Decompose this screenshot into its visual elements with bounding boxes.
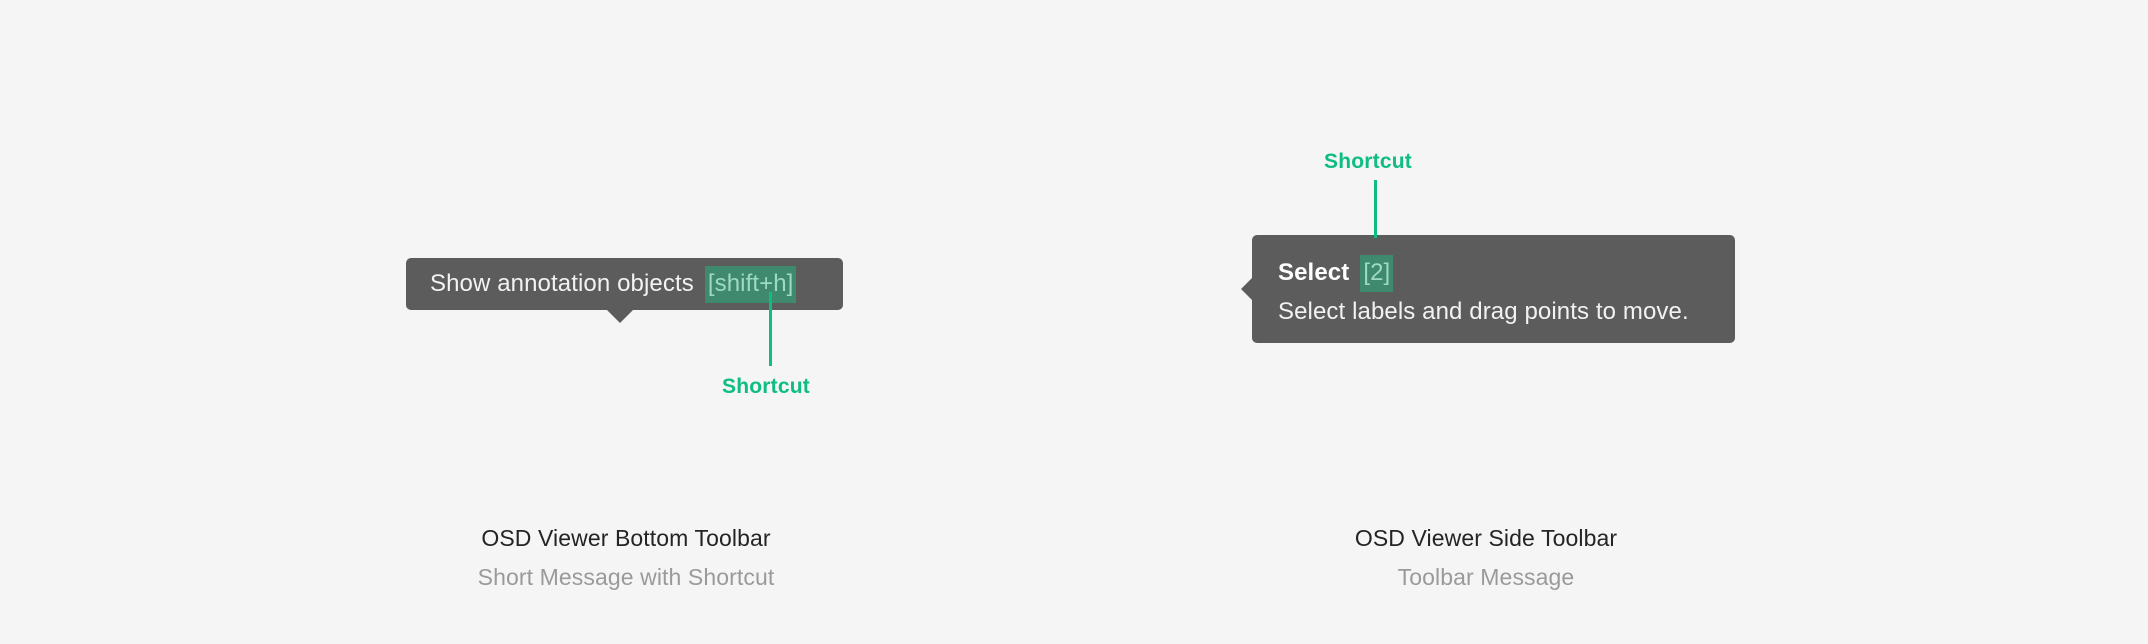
callout-leader-line-shortcut-side bbox=[1374, 180, 1377, 238]
callout-leader-line-shortcut-bottom bbox=[769, 292, 772, 366]
shortcut-chip: [2] bbox=[1360, 255, 1393, 292]
caption-subtitle: Toolbar Message bbox=[1226, 562, 1746, 593]
tooltip-title: Select bbox=[1278, 259, 1349, 287]
caption-title: OSD Viewer Side Toolbar bbox=[1226, 523, 1746, 554]
tooltip-title-row: Select [2] bbox=[1278, 255, 1709, 292]
callout-label-shortcut-side: Shortcut bbox=[1324, 150, 1412, 174]
caption-bottom-toolbar: OSD Viewer Bottom Toolbar Short Message … bbox=[366, 523, 886, 593]
shortcut-chip: [shift+h] bbox=[705, 266, 797, 303]
tooltip-description: Select labels and drag points to move. bbox=[1278, 298, 1709, 326]
annotation-figure-stage: Show annotation objects [shift+h] Shortc… bbox=[0, 0, 2148, 644]
tooltip-side-toolbar: Select [2] Select labels and drag points… bbox=[1252, 235, 1735, 343]
tooltip-message: Show annotation objects bbox=[430, 270, 694, 298]
callout-label-shortcut-bottom: Shortcut bbox=[722, 375, 810, 399]
tooltip-caret-down-icon bbox=[607, 310, 633, 323]
caption-subtitle: Short Message with Shortcut bbox=[366, 562, 886, 593]
caption-title: OSD Viewer Bottom Toolbar bbox=[366, 523, 886, 554]
tooltip-caret-left-icon bbox=[1241, 278, 1252, 300]
caption-side-toolbar: OSD Viewer Side Toolbar Toolbar Message bbox=[1226, 523, 1746, 593]
tooltip-bottom-toolbar: Show annotation objects [shift+h] bbox=[406, 258, 843, 310]
